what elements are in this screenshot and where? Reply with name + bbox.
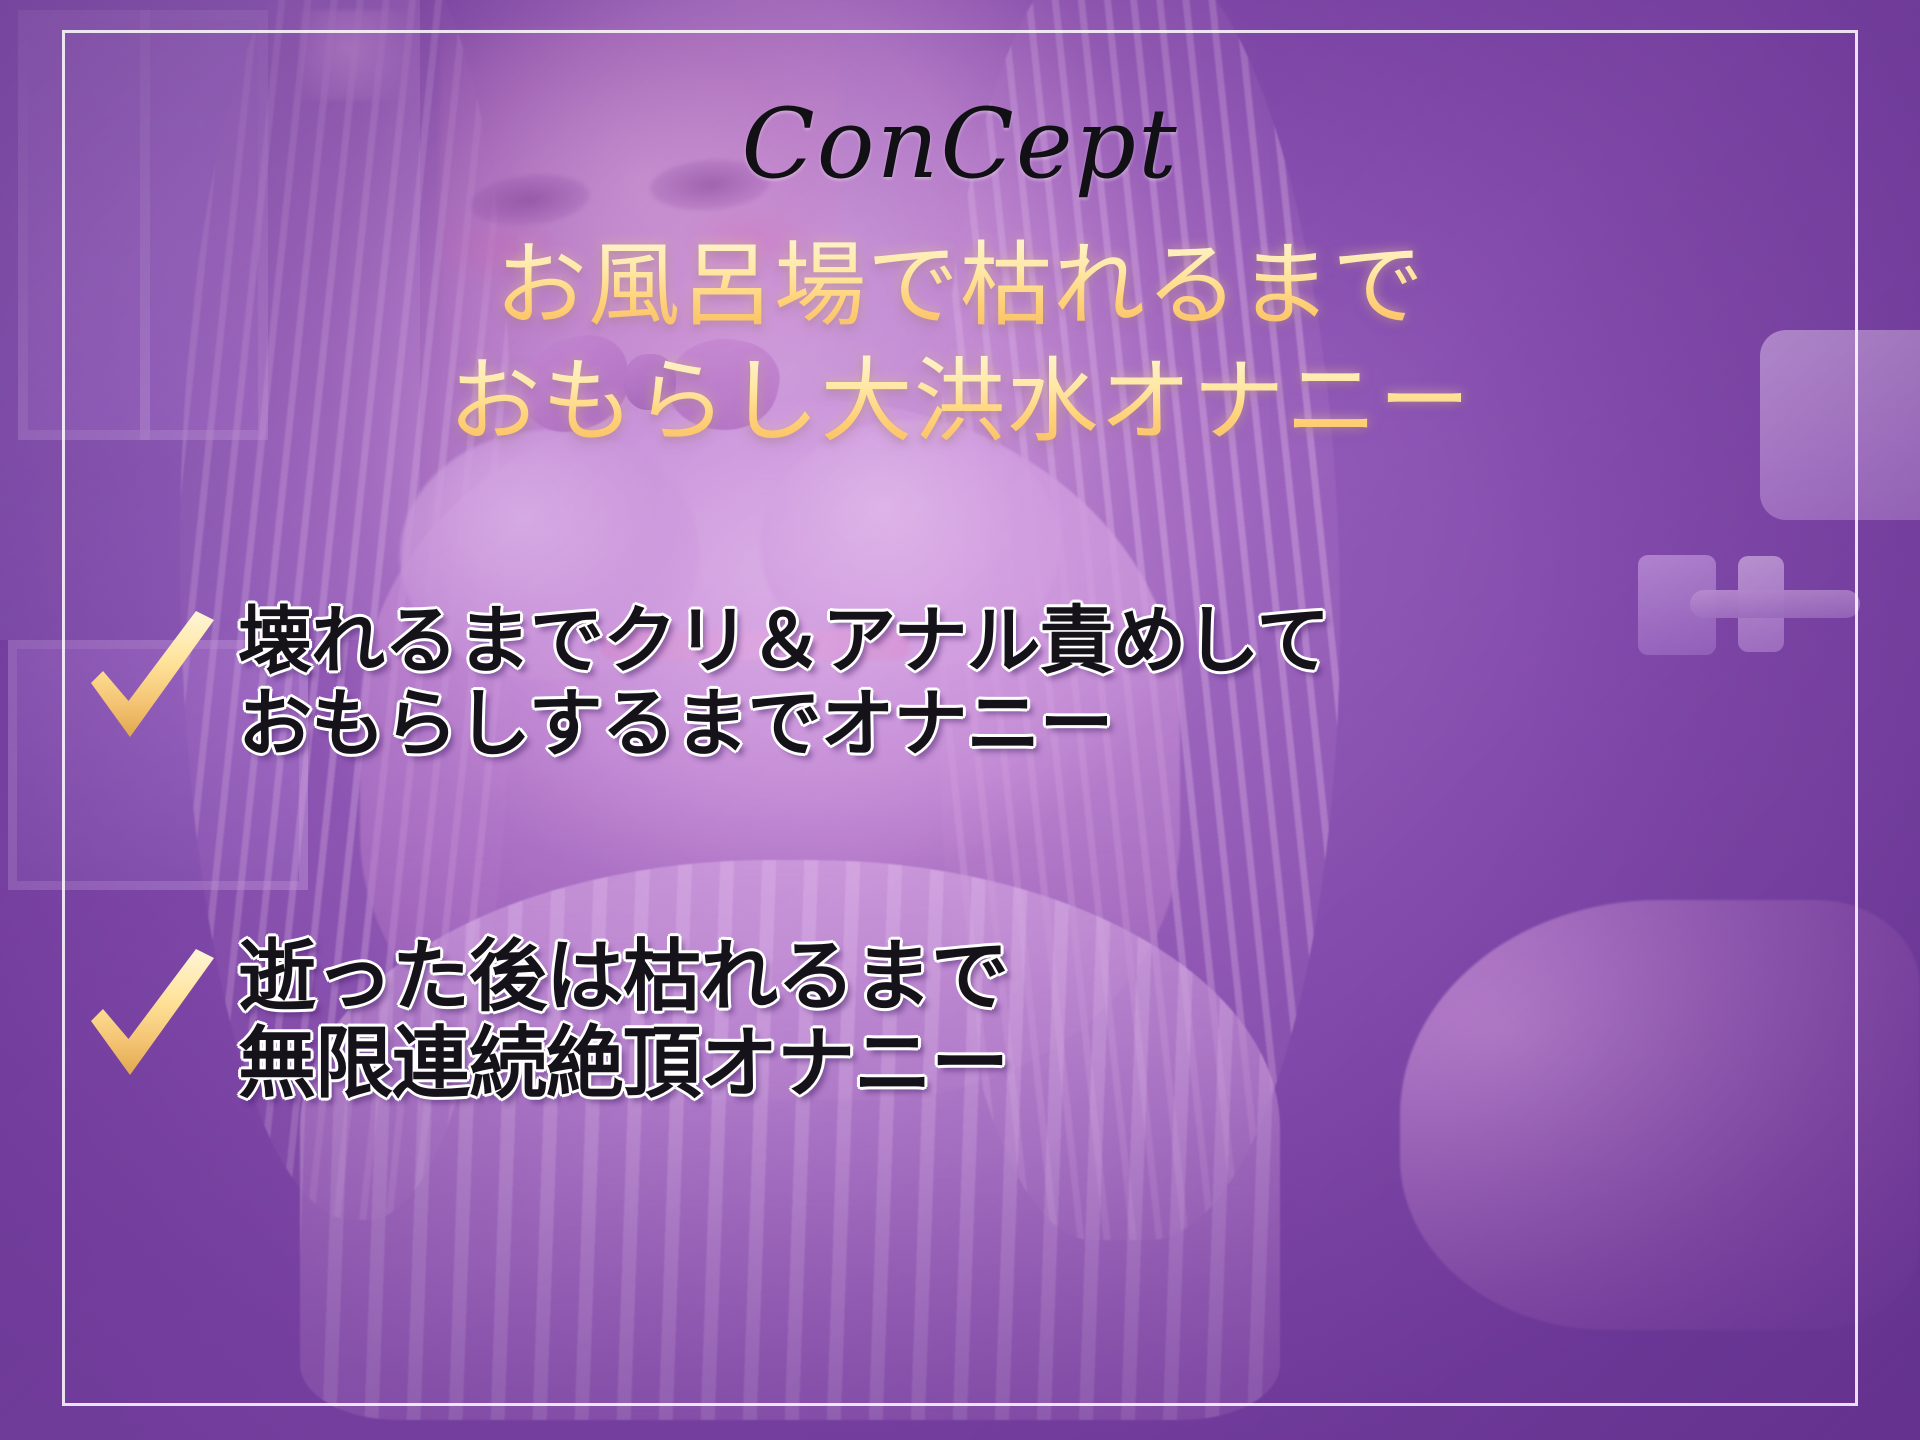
list-item: 壊れるまでクリ＆アナル責めして おもらしするまでオナニー [0, 600, 1920, 766]
check-mark-icon [76, 946, 226, 1096]
poster-canvas: ConCept お風呂場で枯れるまで おもらし大洪水オナニー [0, 0, 1920, 1440]
list-item-line-2: おもらしするまでオナニー [238, 683, 1920, 766]
page-title: ConCept [0, 96, 1920, 192]
list-item-line-1: 逝った後は枯れるまで [238, 934, 1920, 1021]
list-item-text: 壊れるまでクリ＆アナル責めして おもらしするまでオナニー [238, 600, 1920, 766]
list-item-text: 逝った後は枯れるまで 無限連続絶頂オナニー [238, 934, 1920, 1109]
list-item-line-1: 壊れるまでクリ＆アナル責めして [238, 600, 1920, 683]
list-item-line-2: 無限連続絶頂オナニー [238, 1021, 1920, 1108]
list-item: 逝った後は枯れるまで 無限連続絶頂オナニー [0, 934, 1920, 1109]
headline-block: お風呂場で枯れるまで おもらし大洪水オナニー [0, 228, 1920, 460]
headline-line-2: おもらし大洪水オナニー [0, 344, 1920, 460]
headline-line-1: お風呂場で枯れるまで [0, 228, 1920, 344]
feature-list: 壊れるまでクリ＆アナル責めして おもらしするまでオナニー [0, 600, 1920, 1108]
check-mark-icon [76, 608, 226, 758]
poster-content: ConCept お風呂場で枯れるまで おもらし大洪水オナニー [0, 0, 1920, 1440]
